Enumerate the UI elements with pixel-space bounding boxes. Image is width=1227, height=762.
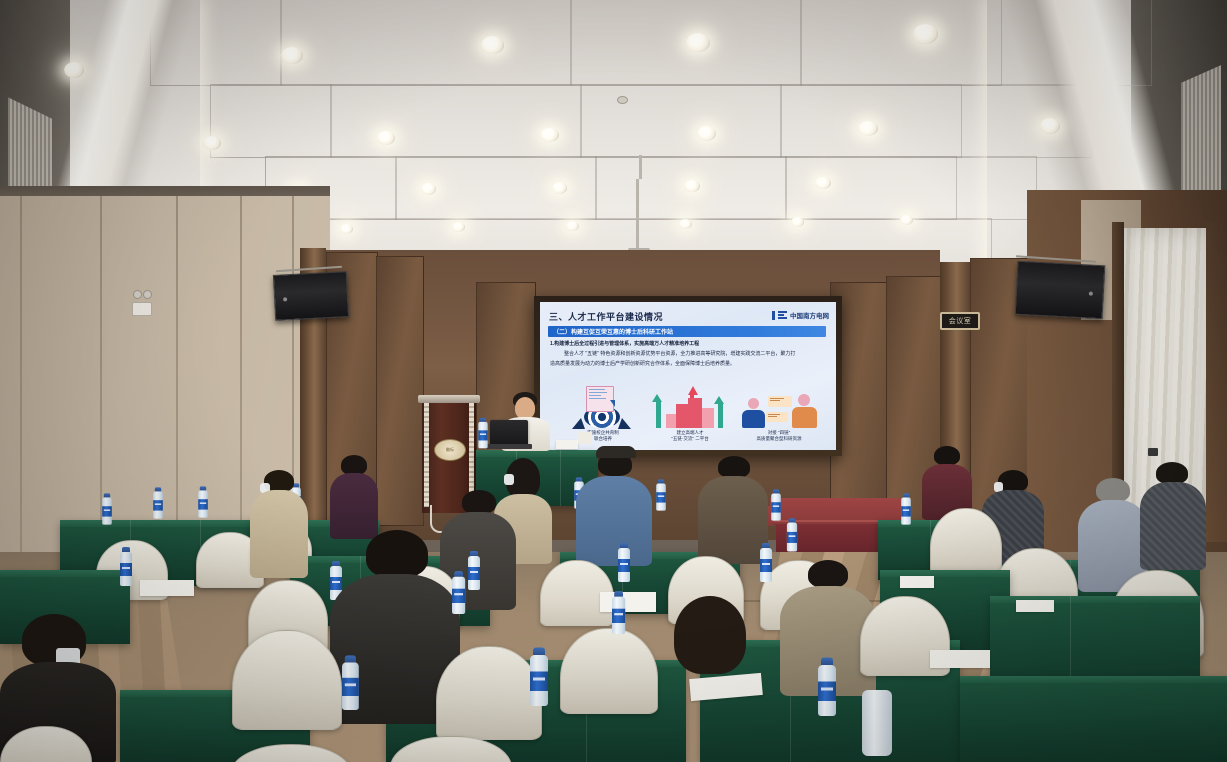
water-bottle xyxy=(618,548,630,582)
wall-sign: 会议室 xyxy=(940,312,980,330)
slide-icon-caption-3b: 高质量聚合型科研资源 xyxy=(736,436,822,442)
cap-hat xyxy=(596,446,636,458)
document-sheet xyxy=(1016,600,1054,612)
slide-icon-caption-2b: "五链·交流" 二平台 xyxy=(648,436,732,442)
water-bottle xyxy=(342,662,359,710)
slide-surface: 三、人才工作平台建设情况 中国南方电网 （二）构建互促互荣互惠的博士后科研工作站… xyxy=(540,302,836,450)
emergency-light-head-icon xyxy=(143,290,152,299)
water-bottle xyxy=(452,577,465,614)
attendee xyxy=(576,452,652,564)
document-sheet xyxy=(900,576,934,588)
downlight xyxy=(64,62,84,78)
conference-room-photo: 会议室 三、人才工作平台建设情况 中国南方电网 （二）构建互促互荣互惠的博士后科… xyxy=(0,0,1227,762)
chair xyxy=(232,630,342,730)
chair xyxy=(436,646,542,740)
downlight xyxy=(815,177,831,189)
downlight xyxy=(452,222,465,232)
lectern-rail xyxy=(424,403,429,507)
downlight xyxy=(203,136,221,150)
logo-mark-icon xyxy=(778,311,787,319)
lectern-emblem: 徽标 xyxy=(434,439,466,461)
attendee xyxy=(330,455,378,537)
laptop-base xyxy=(486,444,532,449)
building-icon xyxy=(688,398,702,428)
water-bottle xyxy=(787,523,797,552)
downlight xyxy=(340,224,353,234)
water-bottle xyxy=(760,548,772,582)
person-head-icon xyxy=(798,394,810,406)
downlight xyxy=(377,131,395,145)
slide-logo: 中国南方电网 xyxy=(772,310,829,320)
slide-body-line-2: 整合人才 "五链" 特色资源和创新资源优势平台资源，全力推进高等研究院，增建实践… xyxy=(564,352,795,357)
attendee xyxy=(1078,478,1148,588)
arrow-up-icon xyxy=(714,396,724,404)
building-icon xyxy=(676,404,688,428)
downlight xyxy=(552,182,567,194)
downlight xyxy=(566,221,579,231)
clipboard-icon xyxy=(586,386,614,412)
water-bottle xyxy=(771,493,781,520)
downlight xyxy=(684,180,700,192)
water-bottle xyxy=(198,490,208,517)
chat-bubble-icon xyxy=(766,412,788,422)
lectern-emblem-text: 徽标 xyxy=(446,447,454,453)
slide-title: 三、人才工作平台建设情况 xyxy=(549,310,663,323)
chat-bubble-icon xyxy=(768,396,792,407)
slide-icon-item-2: 建立高端人才 "五链·交流" 二平台 xyxy=(648,386,732,442)
downlight xyxy=(791,217,804,227)
emergency-light-head-icon xyxy=(133,290,142,299)
downlight xyxy=(281,47,303,64)
slide-body-line-3: 造高质量发展为动力的博士后产学研创新研究合作体系，全面保障博士后培养质量。 xyxy=(550,362,735,367)
arrow-up-icon xyxy=(688,386,698,395)
window-fixture-icon xyxy=(1148,448,1158,456)
water-bottle xyxy=(478,422,487,449)
arrow-up-icon xyxy=(652,394,662,402)
wood-panel xyxy=(376,256,424,526)
downlight xyxy=(481,36,504,54)
table-foreground-far-right xyxy=(960,676,1227,762)
chair xyxy=(560,628,658,714)
downlight xyxy=(913,24,938,44)
bar-icon xyxy=(718,402,723,428)
logo-bar-icon xyxy=(772,311,775,320)
mountain-icon xyxy=(618,418,631,429)
presenter-laptop xyxy=(490,420,528,446)
slide-logo-text: 中国南方电网 xyxy=(790,310,829,320)
cup xyxy=(578,432,592,444)
downlight xyxy=(900,215,913,225)
downlight xyxy=(540,128,559,142)
water-bottle xyxy=(468,556,480,590)
water-bottle xyxy=(612,597,625,634)
water-bottle xyxy=(530,655,548,706)
downlight xyxy=(679,219,692,229)
building-icon xyxy=(702,408,714,428)
wall-speaker-left xyxy=(273,271,349,321)
water-bottle xyxy=(153,491,163,518)
presenter-head xyxy=(515,397,535,419)
slide-section-banner: （二）构建互促互荣互惠的博士后科研工作站 xyxy=(548,326,826,337)
water-bottle xyxy=(102,497,112,524)
slide-icon-item-3: 对接 "四链" 高质量聚合型科研资源 xyxy=(736,386,822,442)
wall-sign-text: 会议室 xyxy=(949,316,972,326)
mountain-icon xyxy=(572,418,585,429)
projector-pole xyxy=(636,179,639,257)
person-body-icon xyxy=(742,410,765,428)
document-sheet xyxy=(140,580,194,596)
water-bottle xyxy=(120,552,132,586)
attendee xyxy=(250,470,308,576)
slide-body-line-1: 1.构建博士后全过程引进与管理体系，实施高端万人才精准培养工程 xyxy=(550,342,699,347)
downlight xyxy=(1040,118,1060,134)
document-sheet xyxy=(930,650,990,668)
projector-mount-rod xyxy=(639,155,642,179)
downlight xyxy=(686,33,710,52)
thermos-bottle xyxy=(862,690,892,756)
slide-banner-text: （二）构建互促互荣互惠的博士后科研工作站 xyxy=(553,327,673,336)
window-frame-right xyxy=(1206,222,1227,542)
smoke-detector-icon xyxy=(617,96,628,104)
water-bottle xyxy=(901,497,911,524)
water-bottle xyxy=(656,483,666,510)
document-sheet xyxy=(556,440,578,449)
emergency-light-icon xyxy=(132,302,152,316)
person-body-icon xyxy=(792,407,817,428)
lectern-top xyxy=(418,395,480,403)
wall-speaker-right xyxy=(1015,261,1106,320)
downlight xyxy=(697,126,716,141)
building-icon xyxy=(666,414,676,428)
chair xyxy=(930,508,1002,576)
water-bottle xyxy=(818,665,836,716)
downlight xyxy=(858,121,878,136)
person-head-icon xyxy=(748,398,759,409)
attendee xyxy=(698,456,768,562)
arrow-down-icon xyxy=(610,400,615,407)
attendee xyxy=(1140,462,1206,566)
bar-icon xyxy=(656,400,661,428)
downlight xyxy=(421,183,436,195)
